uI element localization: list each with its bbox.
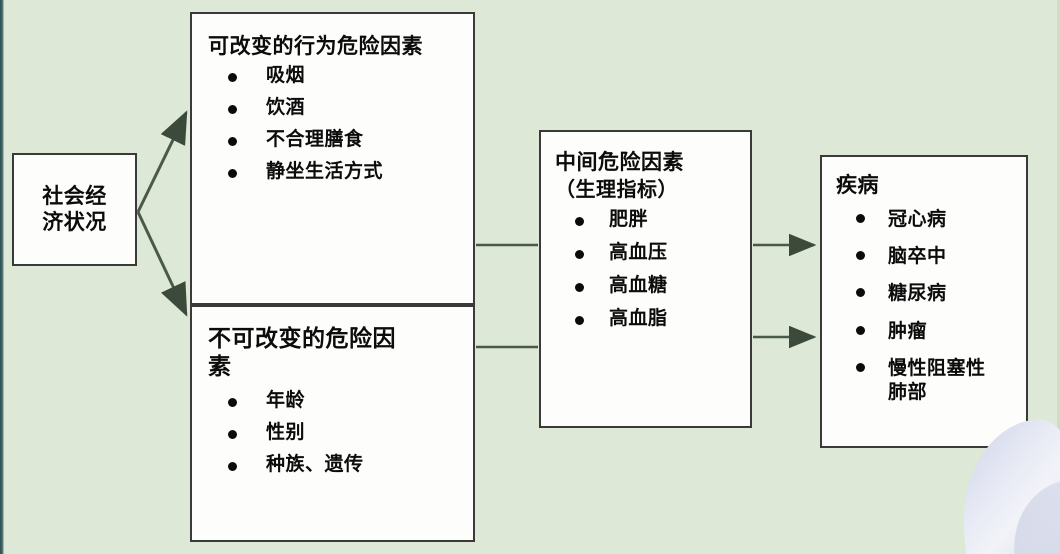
list-item: 高血压 <box>555 243 750 262</box>
node-disease-title: 疾病 <box>836 173 1026 199</box>
node-behavioral-risk-factors-title: 可改变的行为危险因素 <box>208 34 473 60</box>
list-item: 高血糖 <box>555 276 750 295</box>
list-item: 糖尿病 <box>836 281 1026 305</box>
node-socioeconomic-status[interactable]: 社会经 济状况 <box>12 153 137 266</box>
node-nonmodifiable-risk-factors-title: 不可改变的危险因 素 <box>208 325 473 381</box>
node-nonmodifiable-risk-factors[interactable]: 不可改变的危险因 素 年龄 性别 种族、遗传 <box>190 305 475 542</box>
node-socioeconomic-status-title: 社会经 济状况 <box>42 184 107 235</box>
list-item: 年龄 <box>208 391 473 410</box>
node-behavioral-risk-factors[interactable]: 可改变的行为危险因素 吸烟 饮酒 不合理膳食 静坐生活方式 <box>190 12 475 305</box>
list-item: 冠心病 <box>836 207 1026 231</box>
list-item: 高血脂 <box>555 309 750 328</box>
nonmodifiable-risk-factor-list: 年龄 性别 种族、遗传 <box>208 391 473 474</box>
list-item: 肿瘤 <box>836 319 1026 343</box>
node-intermediate-risk-factors-subtitle: （生理指标） <box>555 177 750 202</box>
list-item: 吸烟 <box>208 66 473 85</box>
disease-list: 冠心病 脑卒中 糖尿病 肿瘤 慢性阻塞性 肺部 <box>836 207 1026 405</box>
slide-left-edge-strip <box>0 0 4 554</box>
connector-ses-to-behavioral <box>138 113 186 212</box>
list-item: 饮酒 <box>208 98 473 117</box>
list-item: 不合理膳食 <box>208 130 473 149</box>
list-item: 静坐生活方式 <box>208 162 473 181</box>
behavioral-risk-factor-list: 吸烟 饮酒 不合理膳食 静坐生活方式 <box>208 66 473 181</box>
node-intermediate-risk-factors-title: 中间危险因素 <box>555 150 750 176</box>
intermediate-risk-factor-list: 肥胖 高血压 高血糖 高血脂 <box>555 210 750 328</box>
list-item: 慢性阻塞性 肺部 <box>836 356 1026 405</box>
slide-canvas: 社会经 济状况 可改变的行为危险因素 吸烟 饮酒 不合理膳食 静坐生活方式 不可… <box>0 0 1060 554</box>
node-disease[interactable]: 疾病 冠心病 脑卒中 糖尿病 肿瘤 慢性阻塞性 肺部 <box>820 155 1028 448</box>
node-intermediate-risk-factors[interactable]: 中间危险因素 （生理指标） 肥胖 高血压 高血糖 高血脂 <box>539 130 752 428</box>
list-item: 肥胖 <box>555 210 750 229</box>
list-item: 种族、遗传 <box>208 455 473 474</box>
connector-ses-to-nonmodifiable <box>138 212 186 314</box>
list-item: 脑卒中 <box>836 244 1026 268</box>
list-item: 性别 <box>208 423 473 442</box>
